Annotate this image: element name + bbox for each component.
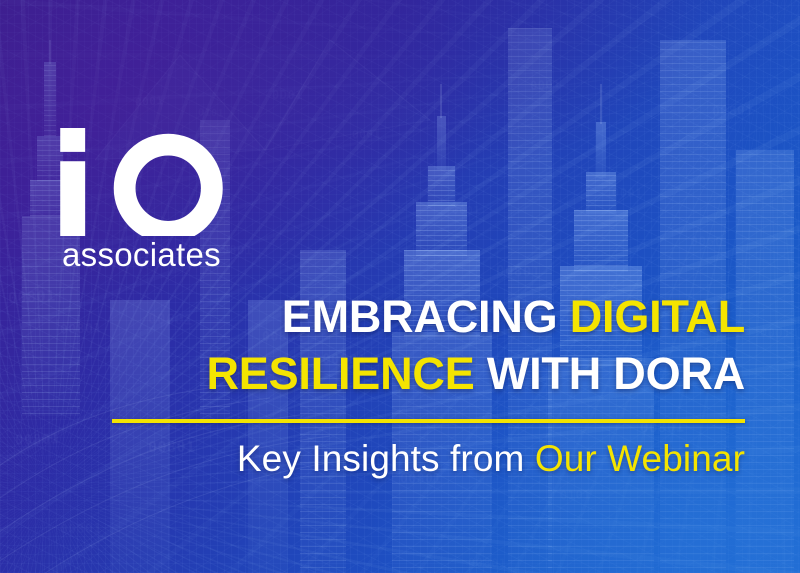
headline-text-white-2: WITH DORA [475, 348, 745, 399]
headline-line-1: EMBRACING DIGITAL [282, 291, 745, 342]
headline-text-accent-1: DIGITAL [570, 291, 745, 342]
logo-wordmark: associates [62, 238, 244, 271]
io-associates-logo: associates [54, 128, 244, 271]
webinar-promo-banner: 00801008010060100010101008010D0100801008… [0, 0, 800, 573]
page-title: EMBRACING DIGITAL RESILIENCE WITH DORA [105, 288, 745, 402]
subtitle-text-white: Key Insights from [237, 438, 535, 479]
headline-line-2: RESILIENCE WITH DORA [206, 348, 745, 399]
headline-text-white-1: EMBRACING [282, 291, 570, 342]
subtitle-text-accent: Our Webinar [535, 438, 745, 479]
page-subtitle: Key Insights from Our Webinar [105, 437, 745, 481]
accent-divider-rule [112, 419, 745, 423]
cityscape-wireframe-illustration [0, 0, 800, 573]
io-logomark-icon [54, 128, 241, 236]
headline-text-accent-2: RESILIENCE [206, 348, 474, 399]
headline-block: EMBRACING DIGITAL RESILIENCE WITH DORA K… [105, 288, 745, 481]
